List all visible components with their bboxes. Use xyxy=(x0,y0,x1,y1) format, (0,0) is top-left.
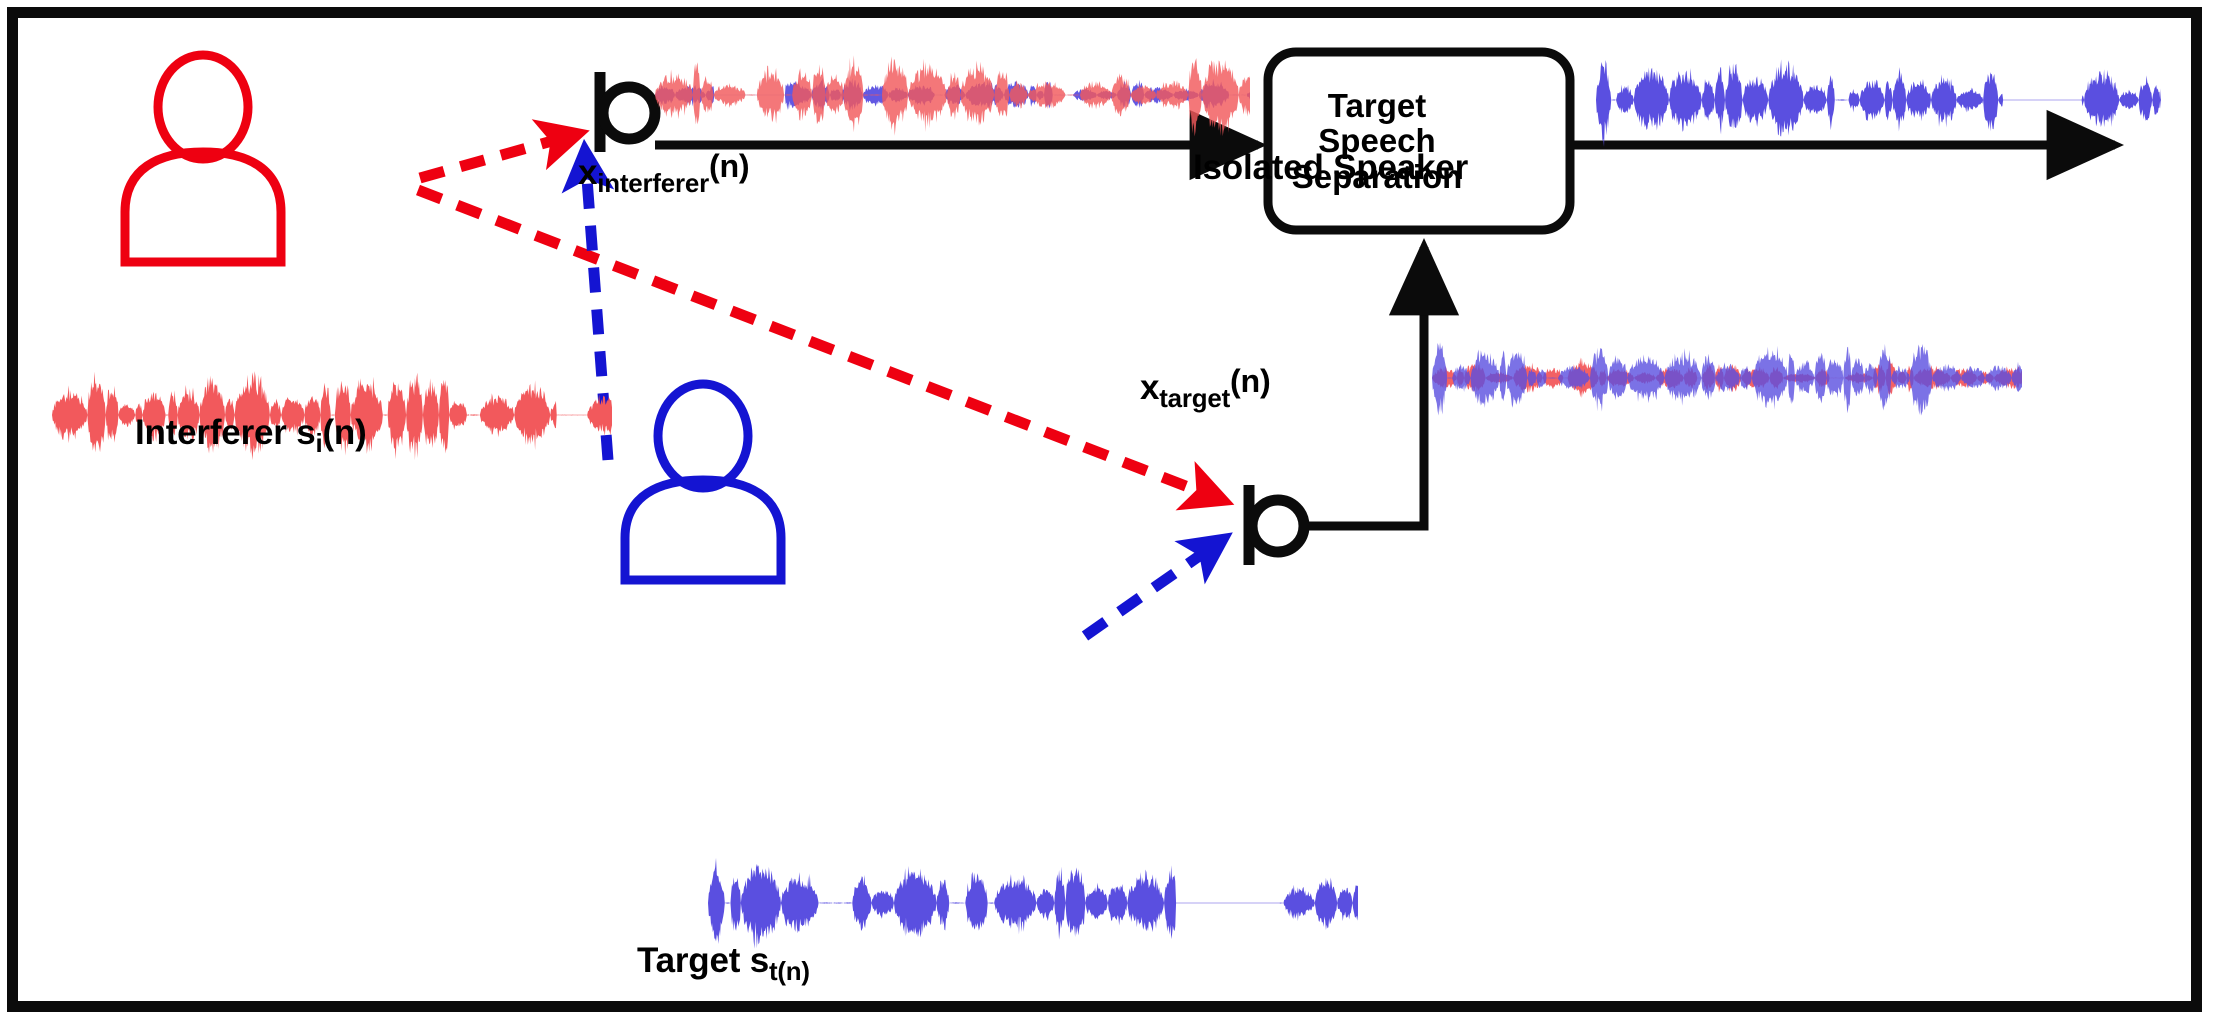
target-source-label: Target st(n) xyxy=(637,941,810,987)
diagram-canvas: Target Speech Separation Interferer si(n… xyxy=(0,0,2228,1034)
person-icon-target xyxy=(622,384,784,580)
path-interferer-to-mic-bottom xyxy=(418,190,1222,500)
interferer-source-label: Interferer si(n) xyxy=(135,413,367,459)
mixture-target-waveform xyxy=(1432,342,2022,415)
interferer-label-tail: (n) xyxy=(322,413,366,452)
xtar-label-base: x xyxy=(1140,368,1159,407)
person-icon-interferer xyxy=(122,55,284,262)
xtar-label-tail: (n) xyxy=(1230,363,1271,399)
block-label: Target Speech Separation xyxy=(1268,52,1486,230)
xint-label-sub: interferer xyxy=(597,170,709,198)
target-waveform xyxy=(708,858,1358,949)
target-label-sub: t(n) xyxy=(769,958,810,986)
output-label-base: Isolated Speaker xyxy=(1193,148,1468,187)
line-mic-bottom-to-block xyxy=(1304,247,1424,526)
interferer-label-base: Interferer s xyxy=(135,413,315,452)
microphone-icon-bottom xyxy=(1249,485,1304,565)
mixture-interferer-label: xinterferer(n) xyxy=(578,148,749,199)
xint-label-tail: (n) xyxy=(709,148,750,184)
target-label-base: Target s xyxy=(637,941,769,980)
diagram-graphics xyxy=(0,0,2228,1034)
mixture-target-label: xtarget(n) xyxy=(1140,363,1271,414)
mixture-interferer-waveform xyxy=(655,55,1250,136)
isolated-speaker-waveform xyxy=(1596,59,2161,147)
output-label: Isolated Speaker xyxy=(1193,148,1468,188)
path-target-to-mic-bottom xyxy=(1085,540,1222,636)
path-interferer-to-mic-top xyxy=(420,134,577,178)
microphone-icon-top xyxy=(600,72,655,152)
xtar-label-sub: target xyxy=(1159,385,1230,413)
xint-label-base: x xyxy=(578,153,597,192)
block-label-line-1: Target xyxy=(1328,88,1426,123)
